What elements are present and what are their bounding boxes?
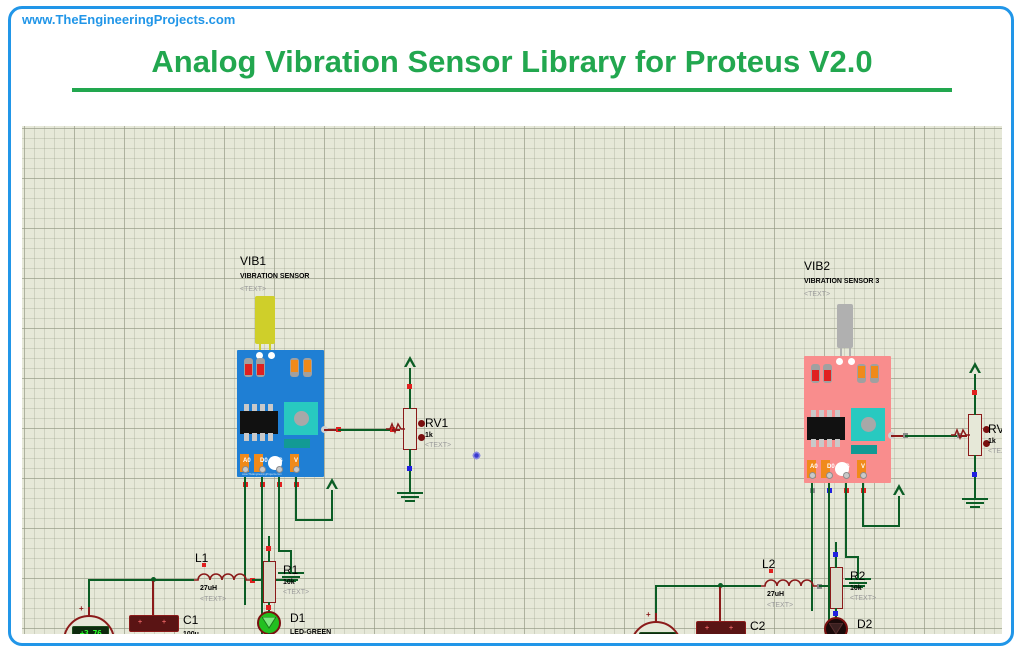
pot-text-rv2: <TEXT> [988,448,1002,455]
inductor-text-l2: <TEXT> [767,602,793,609]
title-underline [72,88,952,92]
vibration-can-vib2 [837,304,853,348]
proteus-schematic-canvas[interactable]: VIB1 VIBRATION SENSOR <TEXT> [22,126,1002,634]
resistor-ref-r2: R2 [850,569,865,583]
resistor-r2[interactable] [830,567,843,609]
inductor-value-l2: 27uH [767,591,784,598]
site-url-text: www.TheEngineeringProjects.com [22,12,235,27]
pin-label-v-vib2: V [861,464,865,470]
screenshot-root: www.TheEngineeringProjects.com Analog Vi… [0,0,1024,654]
pot-wiper-rv2 [951,426,971,442]
resistor-value-r2: 10k [850,585,862,592]
circuit-right: VIB2 VIBRATION SENSOR 3 <TEXT> [22,126,1002,634]
voltmeter-plus-right: + [646,610,651,619]
page-title: Analog Vibration Sensor Library for Prot… [0,44,1024,80]
resistor-text-r2: <TEXT> [850,595,876,602]
led-ref-d2: D2 [857,617,872,631]
pin-label-d0-vib2: D0 [827,464,835,470]
sensor-text-vib2: <TEXT> [804,291,830,298]
pin-label-g-vib2: G [845,464,850,470]
sensor-ref-vib2: VIB2 [804,259,830,273]
pot-value-rv2: 1k [988,438,996,445]
cap-ref-c2: C2 [750,619,765,633]
sensor-part-vib2: VIBRATION SENSOR 3 [804,278,879,285]
voltmeter-reading-right: +1.79 [639,632,676,634]
ic-chip-vib2 [807,417,845,440]
capacitor-c2-plus[interactable] [696,621,746,634]
inductor-symbol-l2[interactable] [759,574,819,590]
pot-ref-rv2: RV2 [988,422,1002,436]
pin-label-a0-vib2: A0 [810,464,818,470]
board-micro-text-vib2: www.TheEngineeringProjects.com [809,479,849,482]
led-triangle-d2 [829,623,843,634]
